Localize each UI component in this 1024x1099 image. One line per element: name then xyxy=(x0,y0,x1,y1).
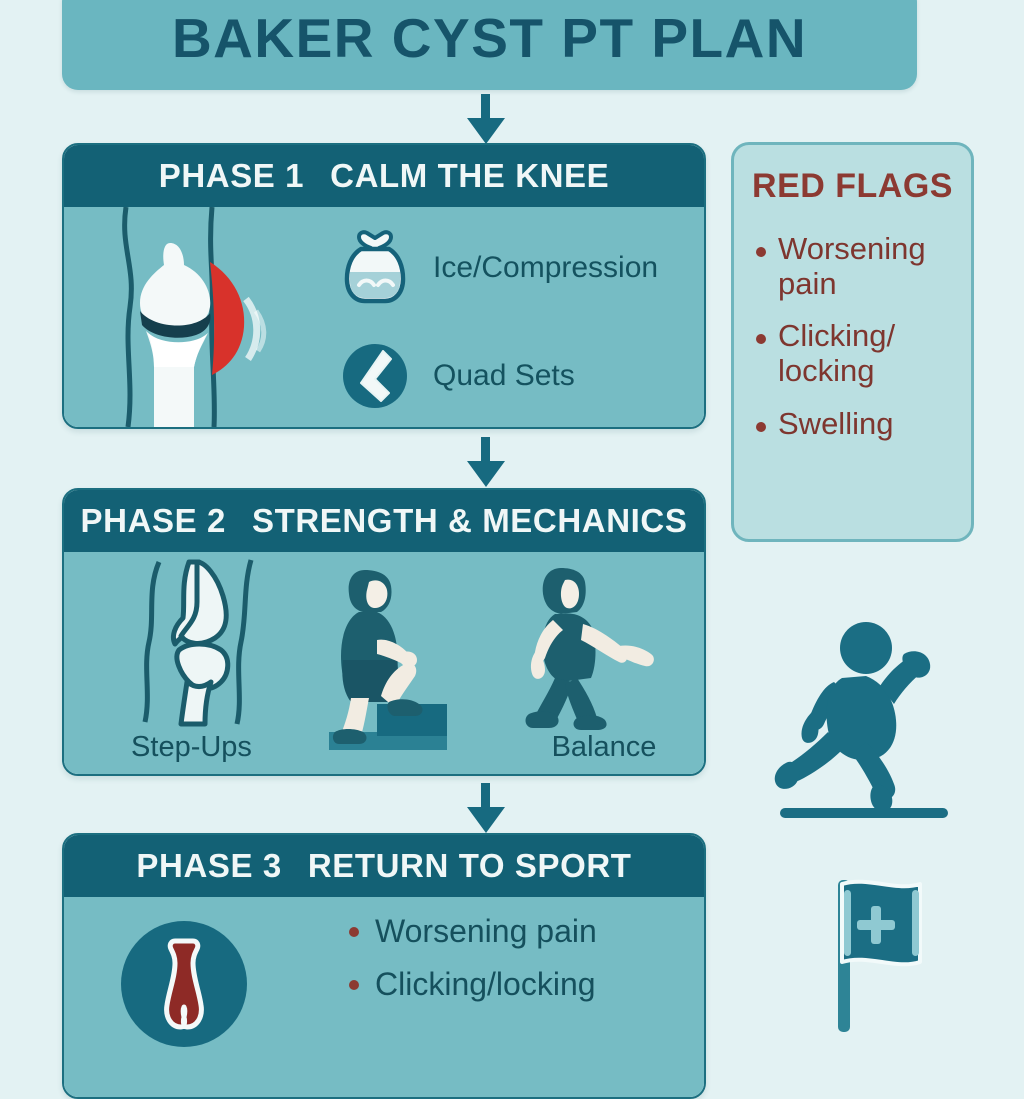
phase-1-item-ice[interactable]: Ice/Compression xyxy=(339,229,658,307)
flow-arrow-down-icon-3 xyxy=(465,783,505,831)
red-flag-item-3: Swelling xyxy=(750,407,955,442)
arrow-head xyxy=(467,807,505,833)
bullet-dot-icon xyxy=(349,980,359,990)
person-balance-icon xyxy=(515,558,705,733)
phase-1-title: CALM THE KNEE xyxy=(330,157,609,195)
phase-2-header: PHASE 2 STRENGTH & MECHANICS xyxy=(64,490,704,552)
red-flag-item-1: Worsening pain xyxy=(750,232,955,301)
phase-1-item-ice-label: Ice/Compression xyxy=(433,251,658,285)
phase-3-bullet-1: Worsening pain xyxy=(349,913,597,950)
phase-2-item-balance-label: Balance xyxy=(509,731,699,764)
title-banner: BAKER CYST PT PLAN xyxy=(62,0,917,90)
phase-3-bullet-2: Clicking/locking xyxy=(349,966,597,1003)
phase-3-body: Worsening pain Clicking/locking xyxy=(64,897,704,1097)
knee-bones-icon xyxy=(101,558,301,728)
red-flag-item-2: Clicking/ locking xyxy=(750,319,955,388)
medical-flag-icon xyxy=(800,872,970,1032)
person-step-up-icon xyxy=(319,556,499,761)
bone-circle-icon xyxy=(119,919,249,1049)
red-flags-panel: RED FLAGS Worsening pain Clicking/ locki… xyxy=(731,142,974,542)
phase-3-bullet-1-label: Worsening pain xyxy=(375,913,597,950)
phase-3-bullet-2-label: Clicking/locking xyxy=(375,966,596,1003)
phase-2-body: Step-Ups xyxy=(64,552,704,774)
phase-2-item-stepups[interactable]: Step-Ups xyxy=(89,552,304,774)
red-flag-item-1-label: Worsening pain xyxy=(778,232,955,301)
phase-1-item-quad[interactable]: Quad Sets xyxy=(339,337,658,415)
bent-leg-icon xyxy=(339,337,411,415)
phase-1-card[interactable]: PHASE 1 CALM THE KNEE xyxy=(62,143,706,429)
phase-3-header: PHASE 3 RETURN TO SPORT xyxy=(64,835,704,897)
phase-1-header: PHASE 1 CALM THE KNEE xyxy=(64,145,704,207)
flow-arrow-down-icon xyxy=(465,94,505,142)
phase-2-item-balance[interactable]: Balance xyxy=(509,552,699,774)
knee-cyst-anatomy-icon xyxy=(84,207,324,427)
page-title: BAKER CYST PT PLAN xyxy=(172,6,807,70)
phase-1-item-quad-label: Quad Sets xyxy=(433,359,575,393)
phase-1-item-list: Ice/Compression Quad Sets xyxy=(339,229,658,415)
phase-3-number: PHASE 3 xyxy=(136,847,281,885)
phase-1-body: Ice/Compression Quad Sets xyxy=(64,207,704,427)
bullet-dot-icon xyxy=(756,334,766,344)
phase-2-card[interactable]: PHASE 2 STRENGTH & MECHANICS Step-Ups xyxy=(62,488,706,776)
phase-2-item-stepups-label: Step-Ups xyxy=(84,731,299,764)
red-flag-item-2-label: Clicking/ locking xyxy=(778,319,955,388)
phase-1-number: PHASE 1 xyxy=(159,157,304,195)
bullet-dot-icon xyxy=(349,927,359,937)
phase-3-card[interactable]: PHASE 3 RETURN TO SPORT Worsening pain C… xyxy=(62,833,706,1099)
ice-pack-icon xyxy=(339,229,411,307)
phase-3-bullet-list: Worsening pain Clicking/locking xyxy=(349,913,597,1019)
red-flags-list: Worsening pain Clicking/ locking Swellin… xyxy=(750,232,955,442)
arrow-head xyxy=(467,461,505,487)
phase-2-title: STRENGTH & MECHANICS xyxy=(252,502,688,540)
red-flag-item-3-label: Swelling xyxy=(778,407,893,442)
bullet-dot-icon xyxy=(756,422,766,432)
phase-2-number: PHASE 2 xyxy=(81,502,226,540)
arrow-head xyxy=(467,118,505,144)
running-person-icon xyxy=(770,612,970,842)
phase-3-title: RETURN TO SPORT xyxy=(308,847,632,885)
bullet-dot-icon xyxy=(756,247,766,257)
phase-2-item-stepbox[interactable] xyxy=(319,552,499,774)
red-flags-title: RED FLAGS xyxy=(750,167,955,206)
flow-arrow-down-icon-2 xyxy=(465,437,505,485)
